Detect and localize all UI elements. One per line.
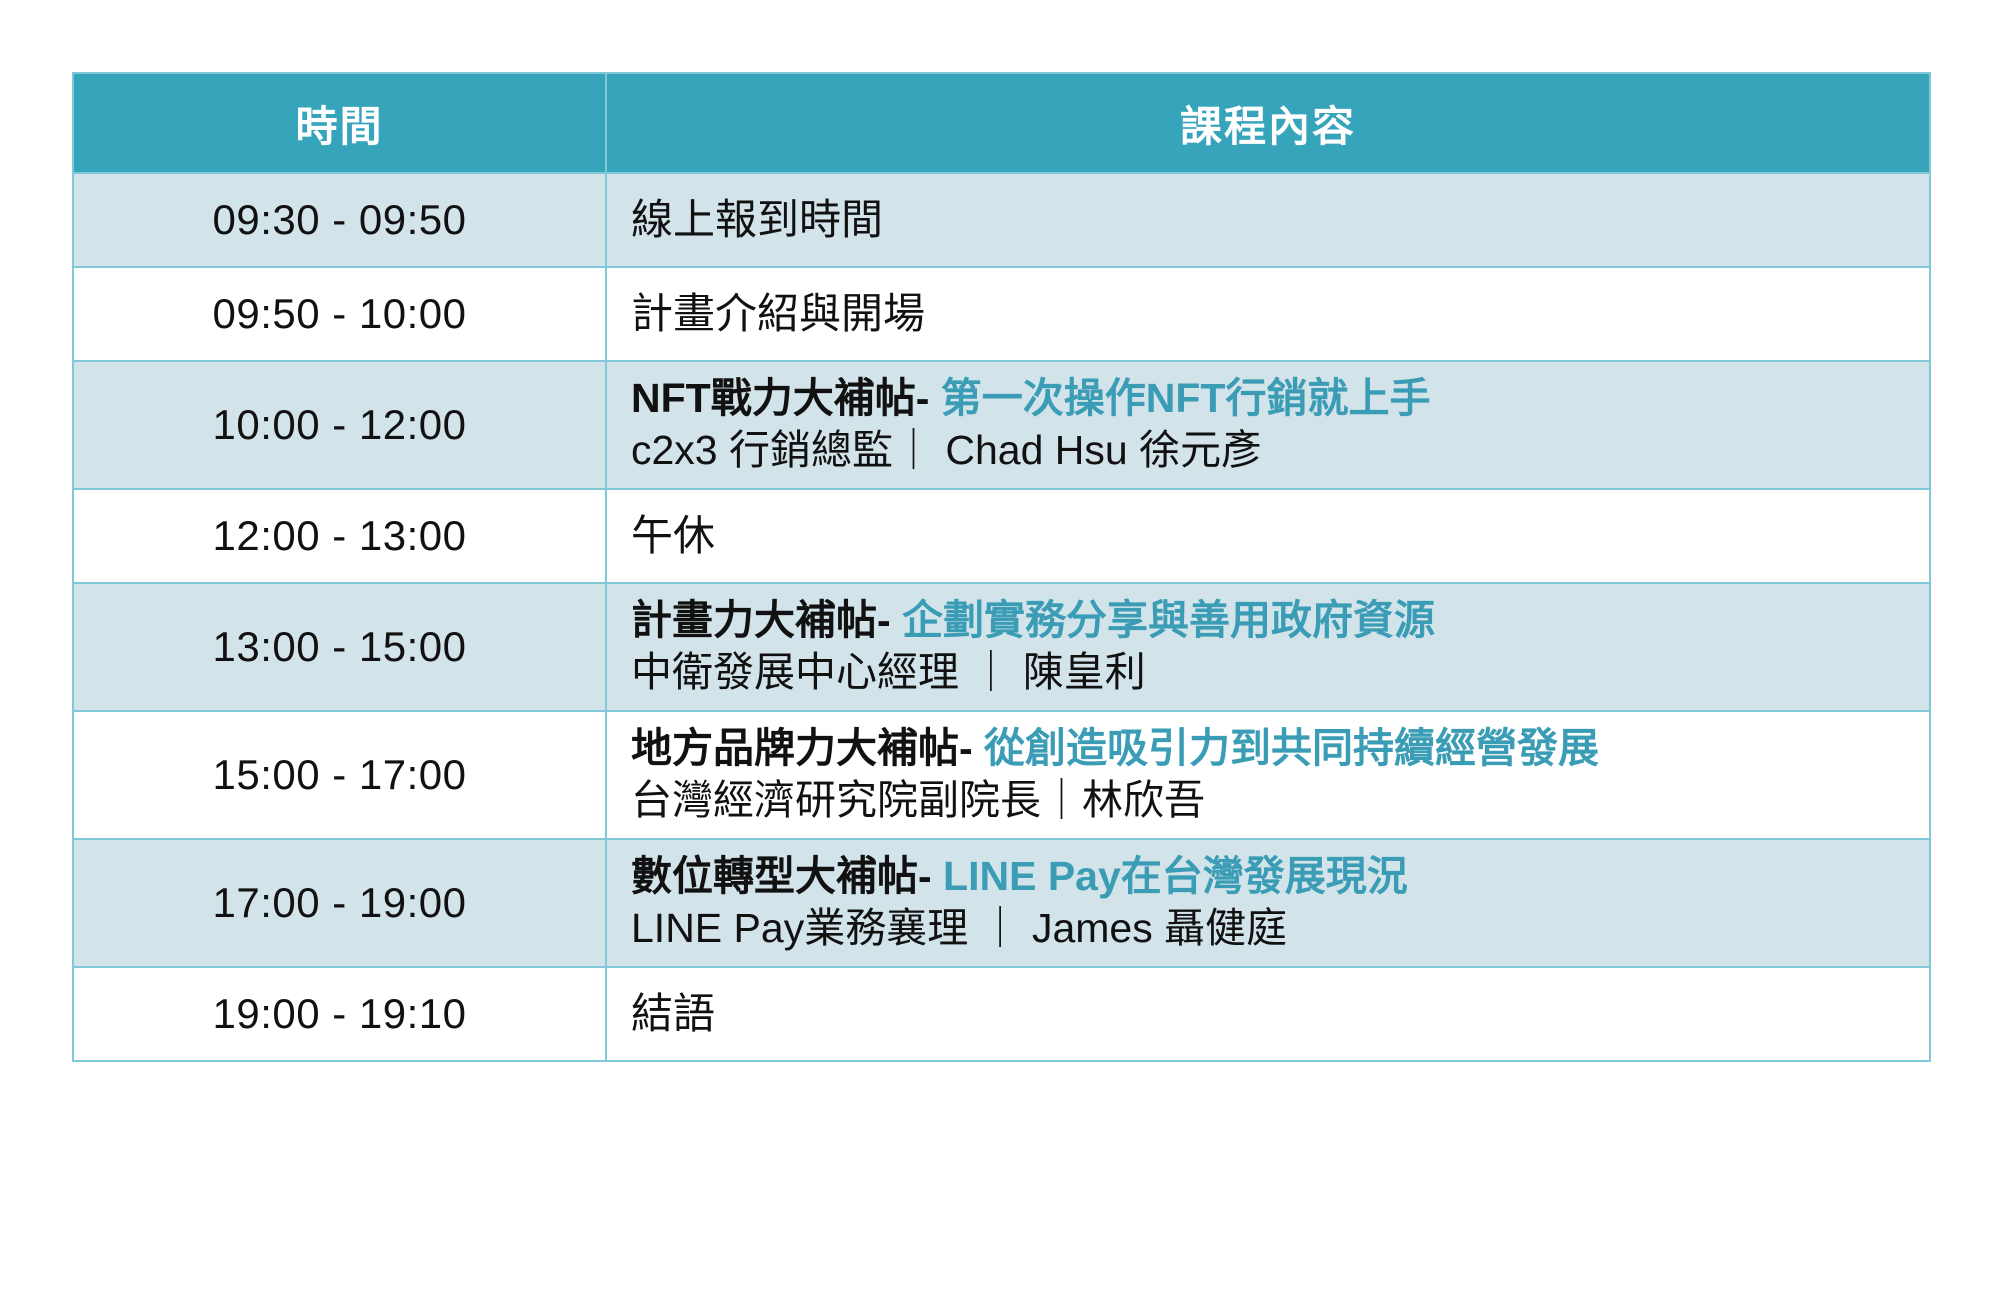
- cell-time: 09:30 - 09:50: [73, 173, 606, 267]
- cell-time: 19:00 - 19:10: [73, 967, 606, 1061]
- cell-time: 13:00 - 15:00: [73, 583, 606, 711]
- cell-content: 午休: [606, 489, 1930, 583]
- session-title-highlight: 第一次操作NFT行銷就上手: [941, 375, 1431, 421]
- session-title-highlight: LINE Pay在台灣發展現況: [943, 853, 1408, 899]
- cell-time: 12:00 - 13:00: [73, 489, 606, 583]
- table-row: 12:00 - 13:00 午休: [73, 489, 1930, 583]
- schedule-page: 時間 課程內容 09:30 - 09:50 線上報到時間 09:50 - 10:…: [0, 0, 2000, 1294]
- session-title: 數位轉型大補帖- LINE Pay在台灣發展現況: [631, 851, 1915, 901]
- cell-time: 09:50 - 10:00: [73, 267, 606, 361]
- session-speaker: 台灣經濟研究院副院長｜林欣吾: [631, 775, 1915, 826]
- table-row: 09:50 - 10:00 計畫介紹與開場: [73, 267, 1930, 361]
- session-title-dash: -: [918, 853, 943, 899]
- table-row: 15:00 - 17:00 地方品牌力大補帖- 從創造吸引力到共同持續經營發展 …: [73, 711, 1930, 839]
- table-row: 19:00 - 19:10 結語: [73, 967, 1930, 1061]
- table-row: 17:00 - 19:00 數位轉型大補帖- LINE Pay在台灣發展現況 L…: [73, 839, 1930, 967]
- session-title-dash: -: [959, 725, 984, 771]
- cell-time: 10:00 - 12:00: [73, 361, 606, 489]
- session-speaker: c2x3 行銷總監｜ Chad Hsu 徐元彥: [631, 425, 1915, 476]
- session-plain-text: 計畫介紹與開場: [631, 290, 925, 337]
- table-header-row: 時間 課程內容: [73, 73, 1930, 173]
- cell-content: 數位轉型大補帖- LINE Pay在台灣發展現況 LINE Pay業務襄理 ｜ …: [606, 839, 1930, 967]
- session-title-prefix: NFT戰力大補帖: [631, 375, 916, 421]
- column-header-content: 課程內容: [606, 73, 1930, 173]
- session-title: NFT戰力大補帖- 第一次操作NFT行銷就上手: [631, 373, 1915, 423]
- session-title-dash: -: [916, 375, 941, 421]
- session-title: 地方品牌力大補帖- 從創造吸引力到共同持續經營發展: [631, 723, 1915, 773]
- cell-time: 15:00 - 17:00: [73, 711, 606, 839]
- table-row: 09:30 - 09:50 線上報到時間: [73, 173, 1930, 267]
- table-row: 13:00 - 15:00 計畫力大補帖- 企劃實務分享與善用政府資源 中衛發展…: [73, 583, 1930, 711]
- session-title-highlight: 從創造吸引力到共同持續經營發展: [984, 725, 1599, 771]
- cell-content: 結語: [606, 967, 1930, 1061]
- cell-content: NFT戰力大補帖- 第一次操作NFT行銷就上手 c2x3 行銷總監｜ Chad …: [606, 361, 1930, 489]
- session-title-prefix: 數位轉型大補帖: [631, 853, 918, 899]
- cell-content: 計畫力大補帖- 企劃實務分享與善用政府資源 中衛發展中心經理 ｜ 陳皇利: [606, 583, 1930, 711]
- table-body: 09:30 - 09:50 線上報到時間 09:50 - 10:00 計畫介紹與…: [73, 173, 1930, 1061]
- cell-content: 計畫介紹與開場: [606, 267, 1930, 361]
- session-plain-text: 午休: [631, 512, 715, 559]
- column-header-time: 時間: [73, 73, 606, 173]
- session-title-dash: -: [877, 597, 902, 643]
- course-schedule-table: 時間 課程內容 09:30 - 09:50 線上報到時間 09:50 - 10:…: [72, 72, 1931, 1062]
- table-row: 10:00 - 12:00 NFT戰力大補帖- 第一次操作NFT行銷就上手 c2…: [73, 361, 1930, 489]
- session-title-prefix: 計畫力大補帖: [631, 597, 877, 643]
- cell-content: 地方品牌力大補帖- 從創造吸引力到共同持續經營發展 台灣經濟研究院副院長｜林欣吾: [606, 711, 1930, 839]
- session-title-highlight: 企劃實務分享與善用政府資源: [902, 597, 1435, 643]
- cell-time: 17:00 - 19:00: [73, 839, 606, 967]
- session-plain-text: 結語: [631, 990, 715, 1037]
- cell-content: 線上報到時間: [606, 173, 1930, 267]
- session-speaker: 中衛發展中心經理 ｜ 陳皇利: [631, 647, 1915, 698]
- session-title-prefix: 地方品牌力大補帖: [631, 725, 959, 771]
- session-title: 計畫力大補帖- 企劃實務分享與善用政府資源: [631, 595, 1915, 645]
- session-speaker: LINE Pay業務襄理 ｜ James 聶健庭: [631, 903, 1915, 954]
- session-plain-text: 線上報到時間: [631, 196, 883, 243]
